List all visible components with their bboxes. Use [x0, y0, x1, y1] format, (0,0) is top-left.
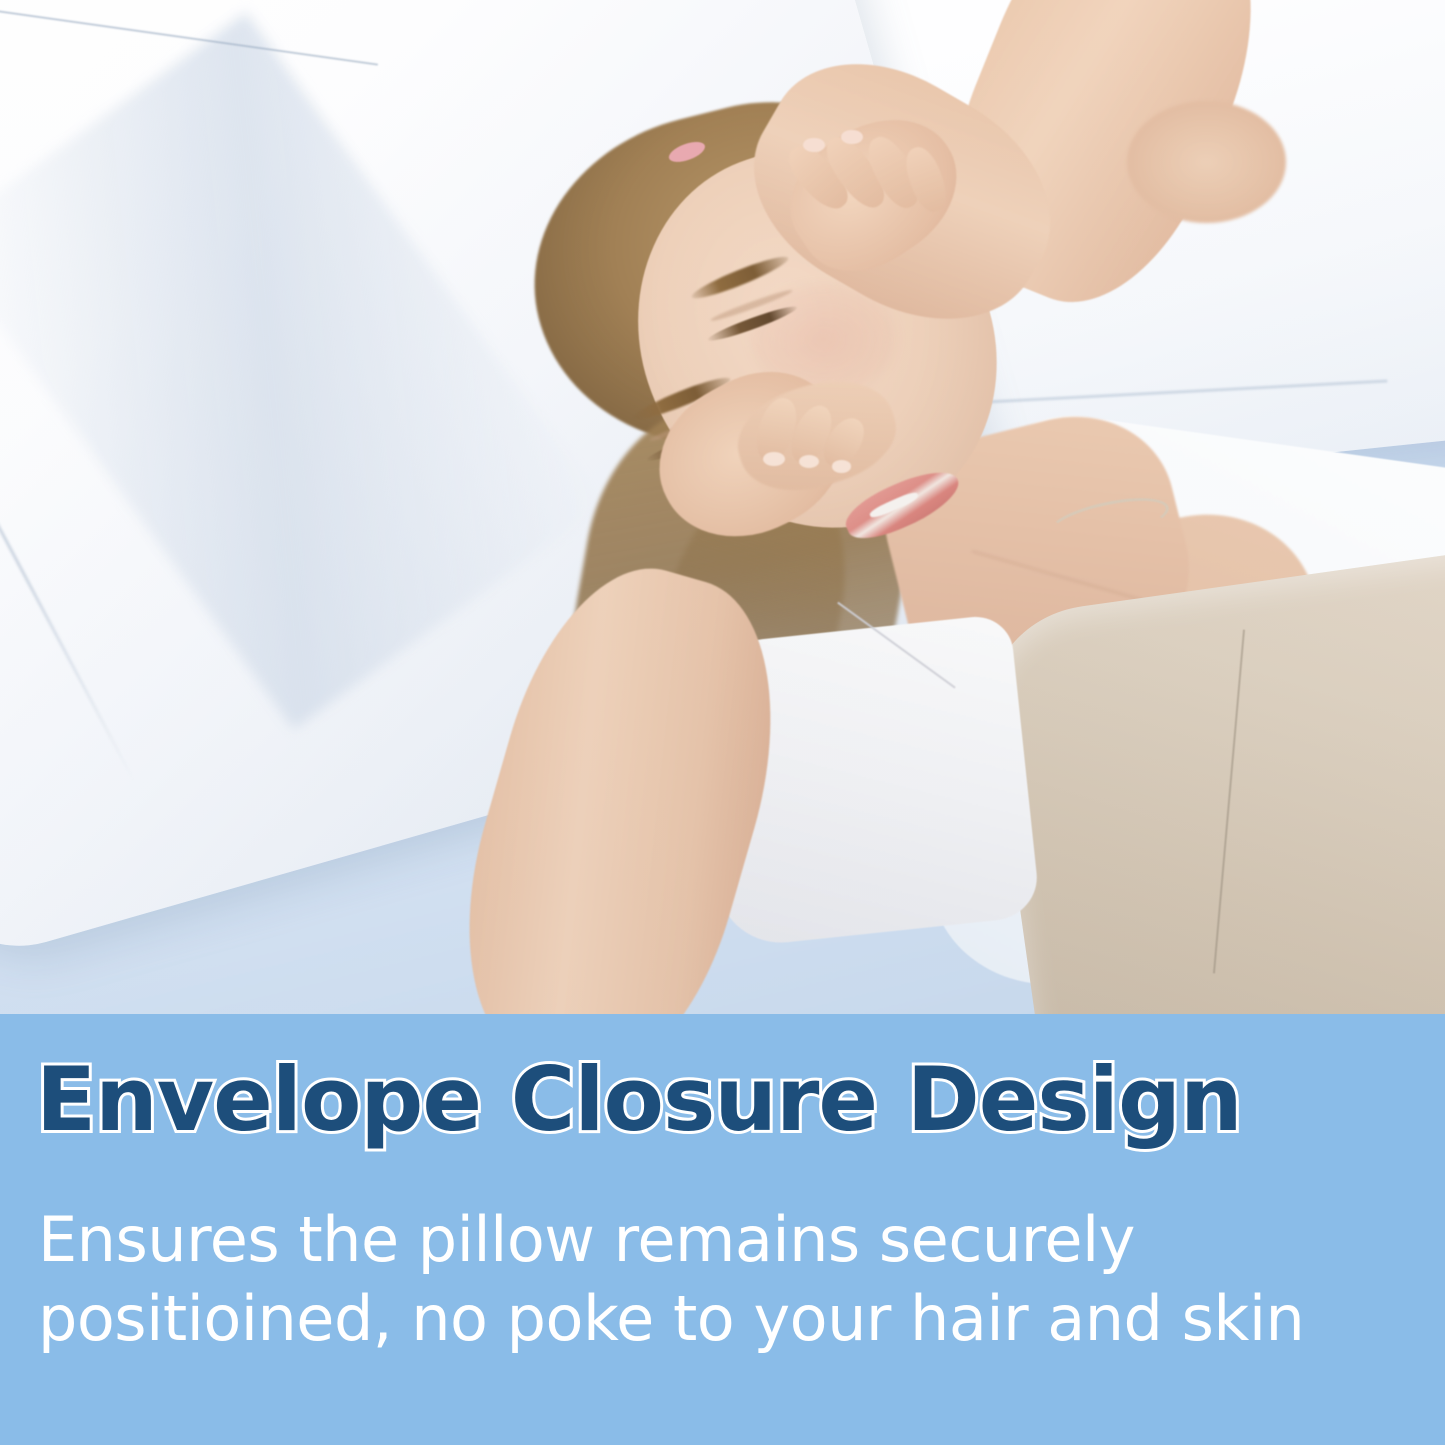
fingernail	[803, 138, 825, 152]
lifestyle-photo	[0, 0, 1445, 1014]
product-feature-poster: Envelope Closure Design Ensures the pill…	[0, 0, 1445, 1445]
feature-subtitle-line-2: positioined, no poke to your hair and sk…	[38, 1279, 1368, 1358]
feature-subtitle: Ensures the pillow remains securely posi…	[38, 1200, 1368, 1359]
pillow-highlight-fold	[0, 13, 603, 730]
fingernail	[841, 130, 863, 144]
feature-subtitle-line-1: Ensures the pillow remains securely	[38, 1200, 1368, 1279]
feature-title: Envelope Closure Design	[36, 1056, 1416, 1144]
elbow	[1127, 101, 1286, 223]
fingernail	[832, 460, 851, 472]
